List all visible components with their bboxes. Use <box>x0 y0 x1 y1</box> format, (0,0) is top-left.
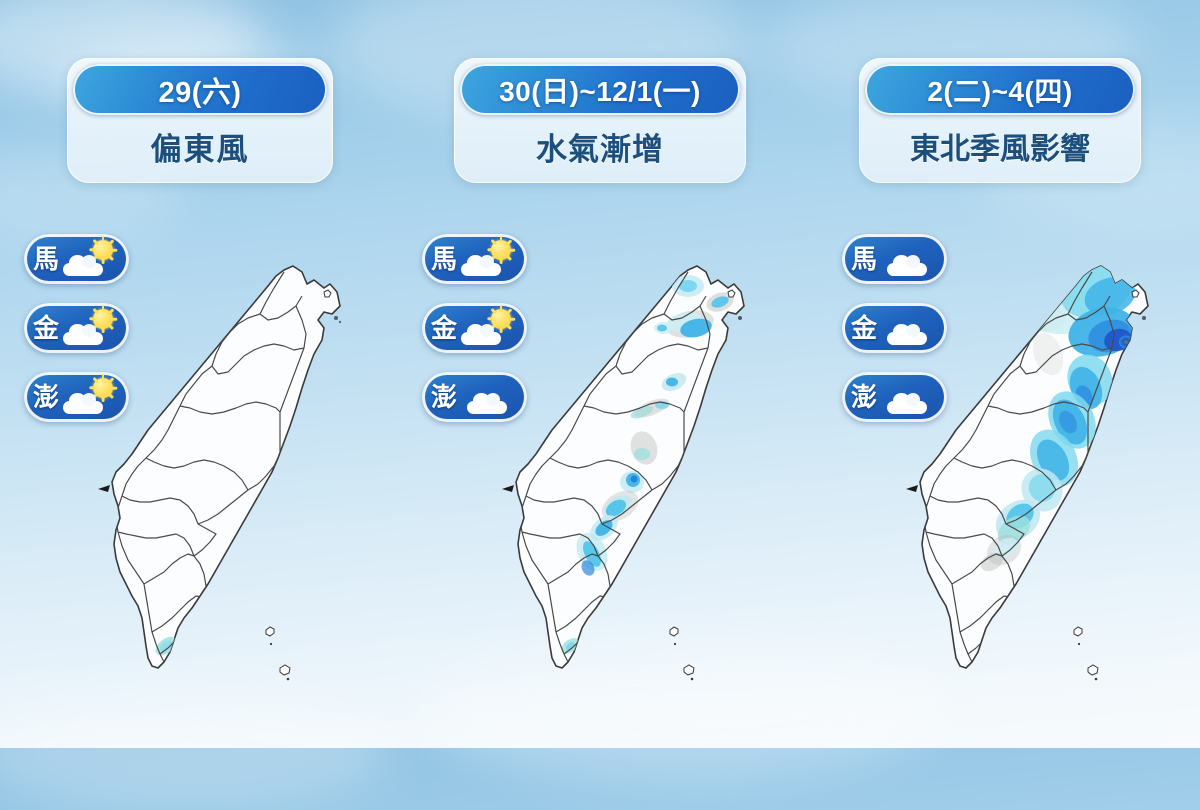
island-badge-label: 馬 <box>33 246 59 272</box>
taiwan-map-0 <box>88 262 388 682</box>
island-badge-label: 金 <box>431 315 457 341</box>
island-badge-label: 澎 <box>851 384 877 410</box>
date-pill-2: 2(二)~4(四) <box>865 64 1135 115</box>
forecast-card-2: 2(二)~4(四) 東北季風影響 <box>859 58 1141 183</box>
map-pointer-0 <box>98 485 110 492</box>
forecast-panel-1: 30(日)~12/1(一) 水氣漸增 馬 金 澎 <box>400 0 800 748</box>
map-pointer-1 <box>502 485 514 492</box>
taiwan-map-2 <box>896 262 1196 682</box>
island-badge-label: 馬 <box>431 246 457 272</box>
date-label-2: 2(二)~4(四) <box>927 70 1072 110</box>
condition-row-0: 偏東風 <box>67 115 333 177</box>
date-label-1: 30(日)~12/1(一) <box>499 70 701 110</box>
island-badge-label: 澎 <box>431 384 457 410</box>
condition-row-2: 東北季風影響 <box>859 115 1141 177</box>
date-label-0: 29(六) <box>158 69 241 111</box>
date-pill-1: 30(日)~12/1(一) <box>460 64 740 115</box>
forecast-panel-2: 2(二)~4(四) 東北季風影響 馬 金 澎 <box>800 0 1200 748</box>
condition-label-2: 東北季風影響 <box>910 124 1090 168</box>
forecast-card-1: 30(日)~12/1(一) 水氣漸增 <box>454 58 746 183</box>
forecast-card-0: 29(六) 偏東風 <box>67 58 333 183</box>
forecast-panel-0: 29(六) 偏東風 馬 金 澎 <box>0 0 400 748</box>
map-pointer-2 <box>906 485 918 492</box>
island-badge-label: 馬 <box>851 246 877 272</box>
condition-row-1: 水氣漸增 <box>454 115 746 177</box>
island-badge-label: 澎 <box>33 384 59 410</box>
condition-label-1: 水氣漸增 <box>536 124 664 169</box>
weather-forecast-graphic: { "background": { "sky_top_color": "#8fc… <box>0 0 1200 748</box>
condition-label-0: 偏東風 <box>151 124 250 169</box>
island-badge-label: 金 <box>851 315 877 341</box>
island-badge-label: 金 <box>33 315 59 341</box>
date-pill-0: 29(六) <box>73 64 327 115</box>
taiwan-map-1 <box>492 262 792 682</box>
